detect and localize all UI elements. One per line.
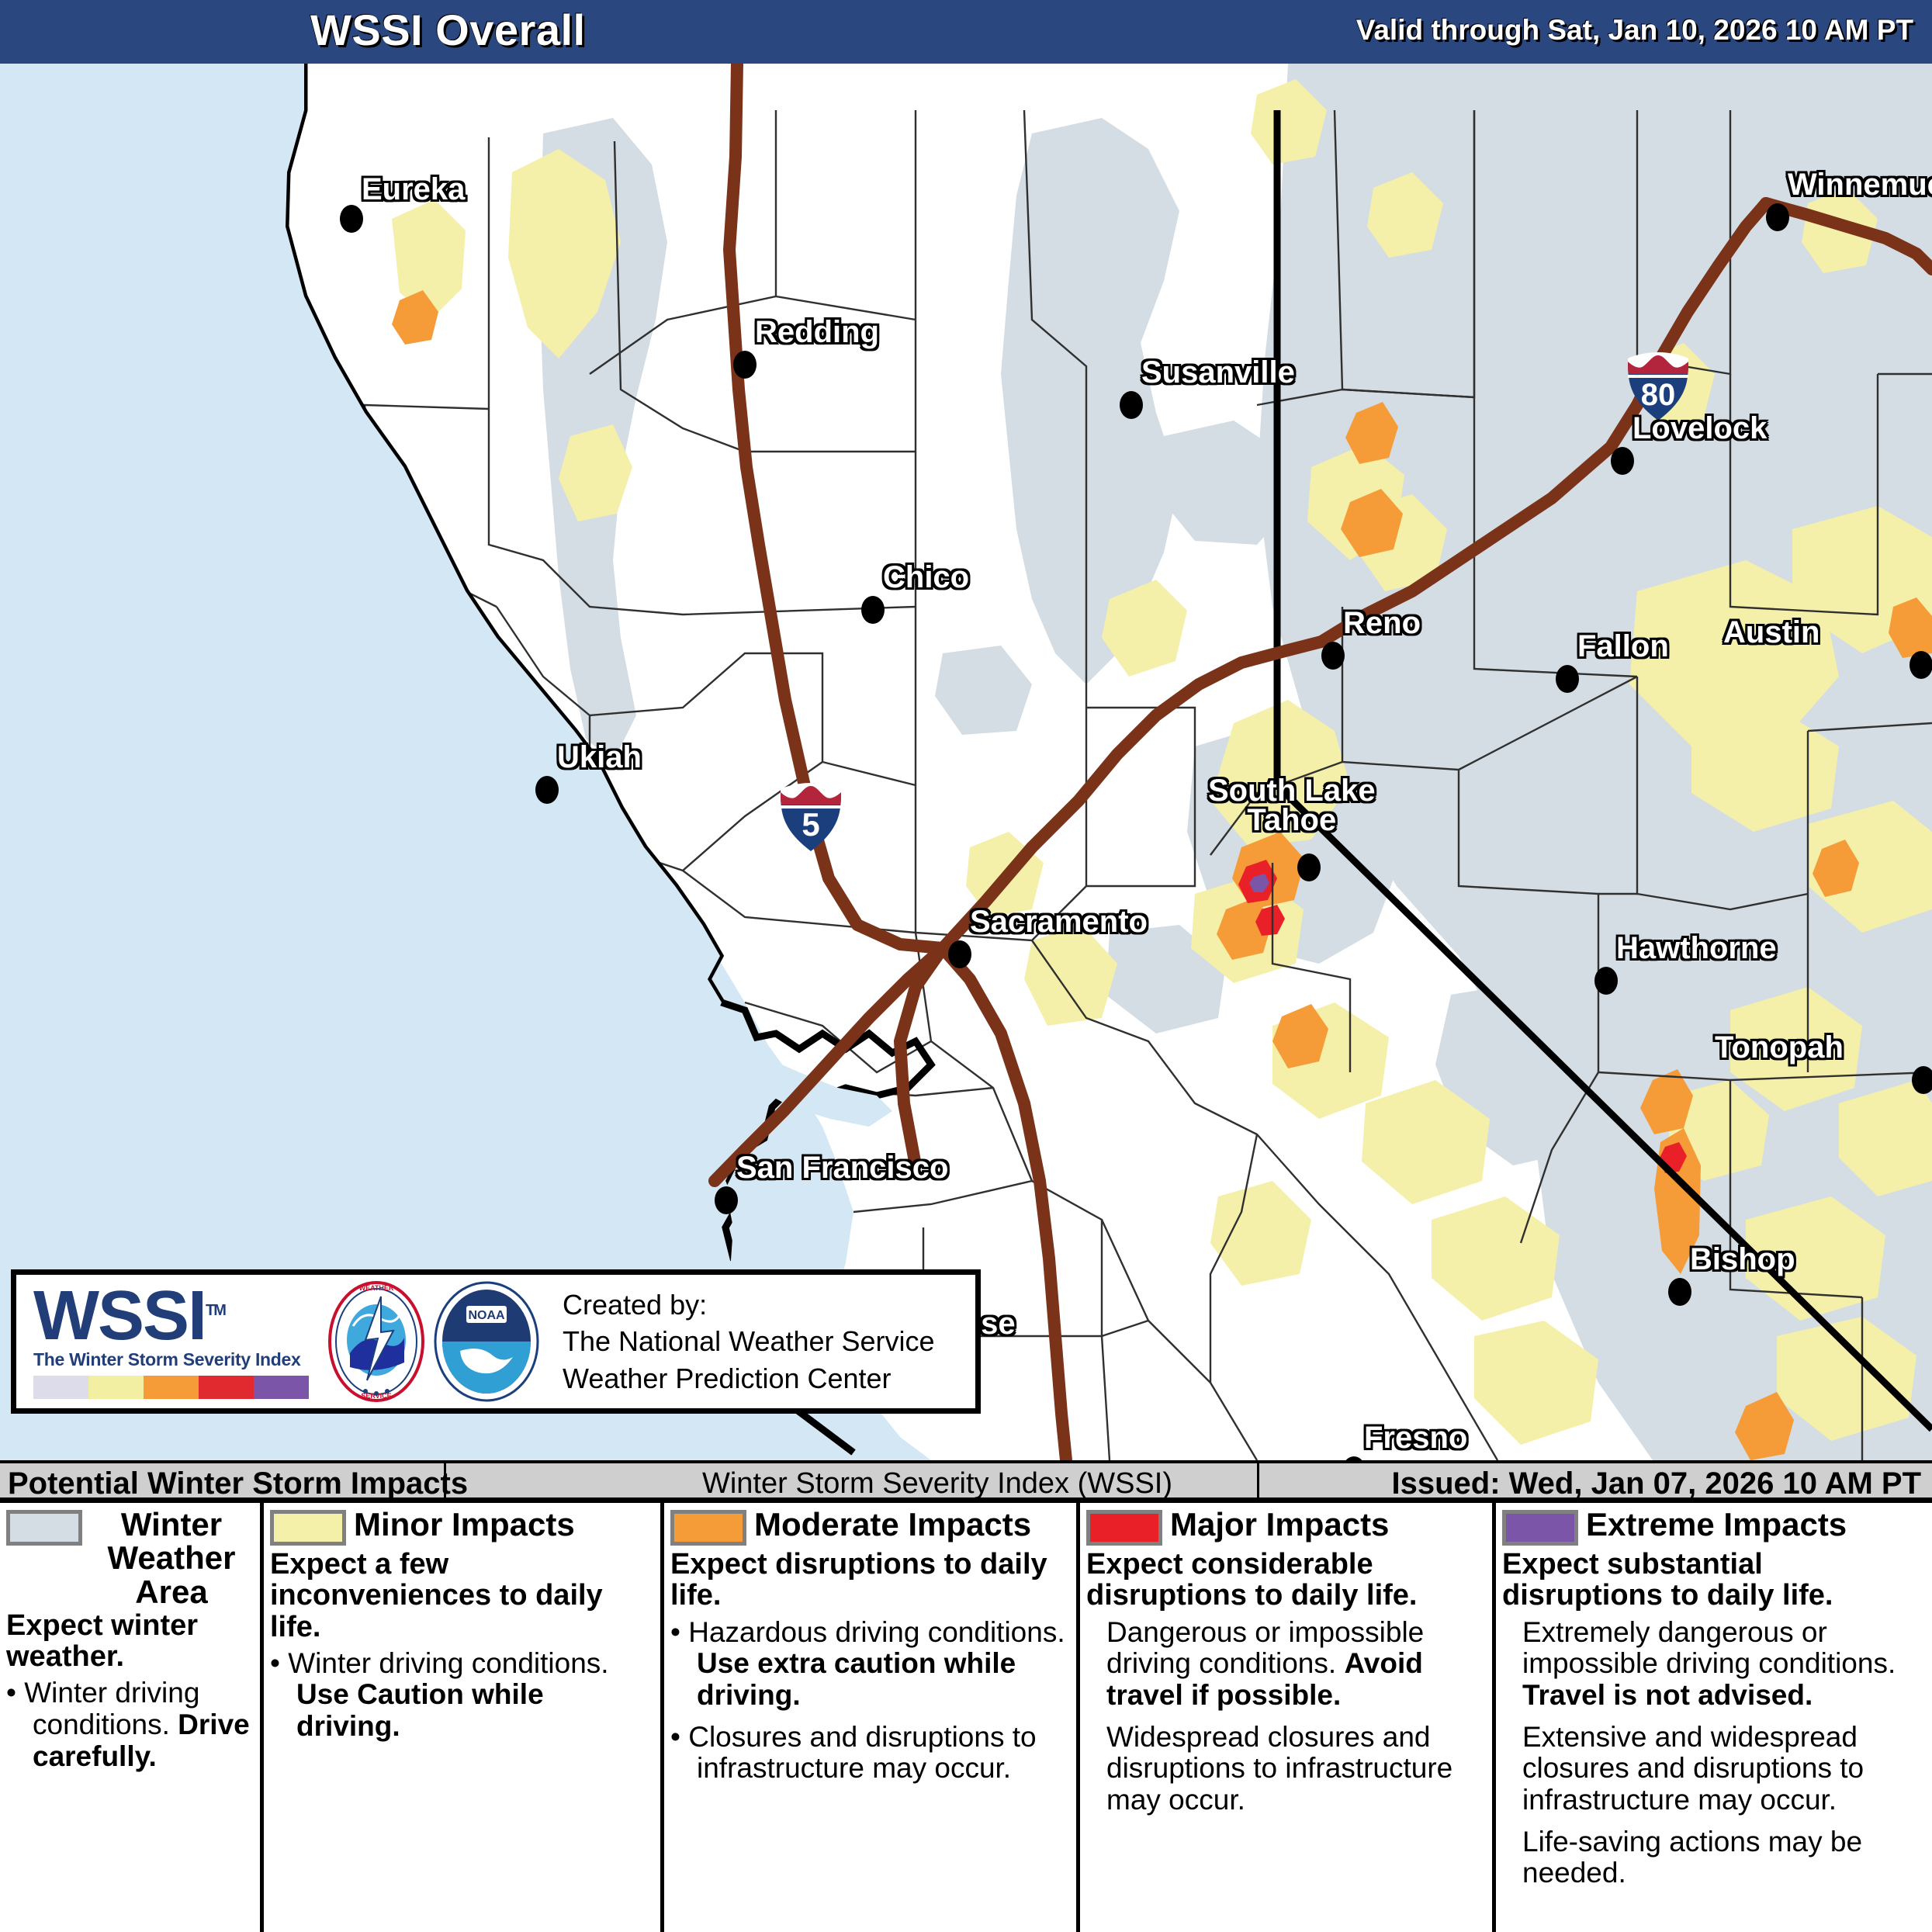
legend-color-swatch [1502, 1510, 1578, 1546]
city-dot [1556, 665, 1579, 693]
city-dot [1766, 203, 1789, 231]
legend-bullet: Extensive and widespread closures and di… [1502, 1722, 1926, 1816]
legend-color-swatch [670, 1510, 746, 1546]
legend-summary: Expect substantial disruptions to daily … [1502, 1549, 1926, 1612]
legend-column-minor-impacts: Minor ImpactsExpect a few inconveniences… [264, 1503, 664, 1932]
legend-title: Extreme Impacts [1586, 1508, 1847, 1541]
page-title: WSSI Overall [310, 5, 586, 55]
banner-center-text: Winter Storm Severity Index (WSSI) [702, 1467, 1172, 1501]
svg-text:WEATHER: WEATHER [359, 1284, 394, 1292]
city-dot [1594, 967, 1618, 995]
legend-header: Winter Weather Area [6, 1508, 254, 1608]
city-label: Eureka [362, 172, 465, 207]
city-dot [715, 1186, 738, 1214]
city-dot [861, 596, 885, 624]
city-label: Ukiah [557, 740, 642, 775]
city-dot [535, 776, 559, 804]
city-label: Austin [1723, 615, 1819, 650]
city-dot [1909, 651, 1932, 679]
legend-color-swatch [270, 1510, 346, 1546]
legend-bullet: Dangerous or impossible driving conditio… [1086, 1617, 1486, 1712]
city-label: Winnemucca [1788, 168, 1932, 203]
interstate-5-shield: 5 [777, 781, 844, 853]
city-label: Fresno [1364, 1421, 1467, 1456]
city-label: San Francisco [736, 1151, 948, 1186]
legend-bullet: Extremely dangerous or impossible drivin… [1502, 1617, 1926, 1712]
created-by-line1: The National Weather Service [563, 1323, 935, 1360]
city-label: Hawthorne [1616, 931, 1777, 966]
city-label: Redding [755, 315, 879, 350]
legend-column-moderate-impacts: Moderate ImpactsExpect disruptions to da… [664, 1503, 1080, 1932]
city-dot [733, 351, 757, 379]
wssi-color-ramp [33, 1376, 309, 1399]
banner-left-text: Potential Winter Storm Impacts [8, 1466, 468, 1501]
legend-header: Extreme Impacts [1502, 1508, 1926, 1546]
city-label: Chico [883, 560, 969, 595]
legend-summary: Expect winter weather. [6, 1610, 254, 1673]
map-graphic [0, 64, 1932, 1460]
city-dot [1321, 642, 1345, 670]
legend-bullet: Widespread closures and disruptions to i… [1086, 1722, 1486, 1816]
city-label: South LakeTahoe [1208, 776, 1376, 835]
noaa-seal-label: NOAA [468, 1309, 505, 1322]
wssi-logo-box: WSSITM The Winter Storm Severity Index W… [11, 1269, 981, 1414]
valid-through-text: Valid through Sat, Jan 10, 2026 10 AM PT [1356, 14, 1913, 47]
shield-route-number: 5 [802, 806, 819, 843]
legend-bullet-list: Winter driving conditions. Drive careful… [6, 1678, 254, 1772]
shield-route-number: 80 [1641, 378, 1676, 412]
nws-seal-icon: WEATHER SERVICE [327, 1279, 426, 1404]
city-dot [1912, 1066, 1932, 1094]
legend-color-swatch [6, 1510, 82, 1546]
impacts-banner: Potential Winter Storm Impacts Winter St… [0, 1460, 1932, 1501]
city-dot [1297, 853, 1321, 881]
city-label: Reno [1343, 606, 1421, 641]
legend-title: Minor Impacts [354, 1508, 575, 1541]
legend-title: Winter Weather Area [90, 1508, 253, 1608]
city-label: Sacramento [970, 905, 1148, 940]
city-dot [1611, 447, 1634, 475]
noaa-seal-icon: NOAA [432, 1279, 541, 1404]
banner-right-text: Issued: Wed, Jan 07, 2026 10 AM PT [1392, 1466, 1922, 1501]
legend-bullet: Hazardous driving conditions. Use extra … [670, 1617, 1070, 1712]
city-label: Susanville [1141, 355, 1295, 390]
city-label: Tonopah [1715, 1030, 1844, 1065]
legend-title: Moderate Impacts [754, 1508, 1031, 1541]
map-canvas[interactable]: 5 80 EurekaReddingSusanvilleChicoUkiahSa… [0, 64, 1932, 1460]
legend-header: Minor Impacts [270, 1508, 654, 1546]
impact-legend: Winter Weather AreaExpect winter weather… [0, 1501, 1932, 1932]
created-by-label: Created by: [563, 1286, 935, 1324]
created-by-block: Created by: The National Weather Service… [563, 1286, 935, 1397]
legend-column-major-impacts: Major ImpactsExpect considerable disrupt… [1080, 1503, 1496, 1932]
page-header: WSSI Overall Valid through Sat, Jan 10, … [0, 0, 1932, 64]
trademark-mark: TM [206, 1302, 225, 1319]
city-label: Bishop [1690, 1242, 1795, 1277]
city-dot [1120, 391, 1143, 419]
legend-summary: Expect considerable disruptions to daily… [1086, 1549, 1486, 1612]
legend-bullet-list: Hazardous driving conditions. Use extra … [670, 1617, 1070, 1785]
legend-bullet: Winter driving conditions. Drive careful… [6, 1678, 254, 1772]
legend-header: Moderate Impacts [670, 1508, 1070, 1546]
wssi-brand: WSSITM The Winter Storm Severity Index [16, 1284, 319, 1400]
city-dot [340, 205, 363, 233]
legend-header: Major Impacts [1086, 1508, 1486, 1546]
wssi-overall-map-page: WSSI Overall Valid through Sat, Jan 10, … [0, 0, 1932, 1932]
legend-column-winter-weather-area: Winter Weather AreaExpect winter weather… [0, 1503, 264, 1932]
legend-bullet: Life-saving actions may be needed. [1502, 1826, 1926, 1889]
legend-bullet-list: Extremely dangerous or impossible drivin… [1502, 1617, 1926, 1890]
agency-seals: WEATHER SERVICE NOAA [327, 1279, 541, 1404]
city-label: Fallon [1577, 629, 1669, 664]
legend-summary: Expect disruptions to daily life. [670, 1549, 1070, 1612]
legend-bullet: Winter driving conditions. Use Caution w… [270, 1648, 654, 1743]
legend-title: Major Impacts [1170, 1508, 1389, 1541]
city-label: Lovelock [1633, 411, 1767, 446]
legend-bullet: Closures and disruptions to infrastructu… [670, 1722, 1070, 1785]
city-dot [948, 940, 971, 968]
city-dot [1668, 1278, 1691, 1306]
legend-color-swatch [1086, 1510, 1162, 1546]
wssi-wordmark: WSSITM [33, 1284, 319, 1349]
legend-summary: Expect a few inconveniences to daily lif… [270, 1549, 654, 1643]
legend-bullet-list: Winter driving conditions. Use Caution w… [270, 1648, 654, 1743]
legend-column-extreme-impacts: Extreme ImpactsExpect substantial disrup… [1496, 1503, 1932, 1932]
created-by-line2: Weather Prediction Center [563, 1360, 935, 1397]
legend-bullet-list: Dangerous or impossible driving conditio… [1086, 1617, 1486, 1816]
